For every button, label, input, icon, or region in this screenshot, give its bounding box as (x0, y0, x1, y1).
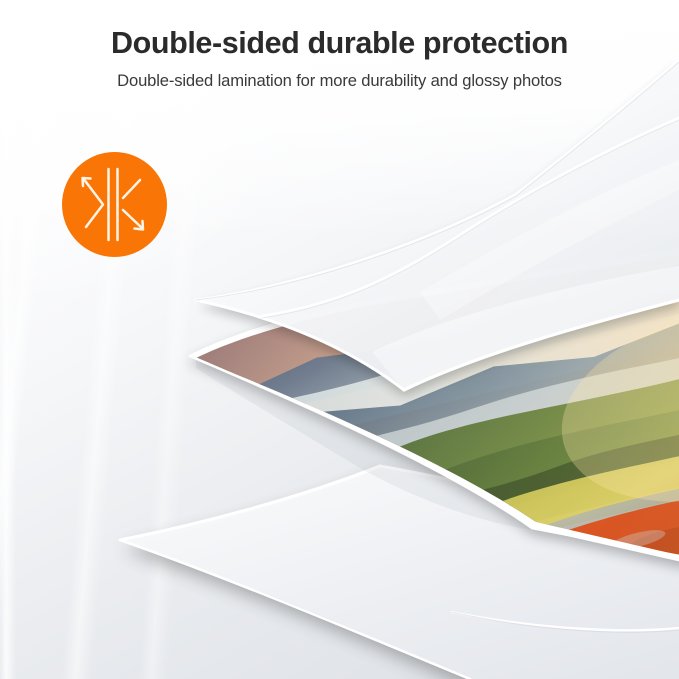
header: Double-sided durable protection Double-s… (0, 26, 679, 91)
promo-graphic: Double-sided durable protection Double-s… (0, 0, 679, 679)
layer-stack (0, 0, 679, 679)
right-arrow-upper-shaft (123, 180, 140, 198)
double-sided-lamination-icon (62, 152, 167, 257)
page-subtitle: Double-sided lamination for more durabil… (0, 71, 679, 91)
left-chevron (86, 182, 103, 227)
double-sided-lamination-badge (62, 152, 167, 257)
page-title: Double-sided durable protection (0, 26, 679, 62)
right-arrow-lower-shaft (123, 210, 142, 228)
